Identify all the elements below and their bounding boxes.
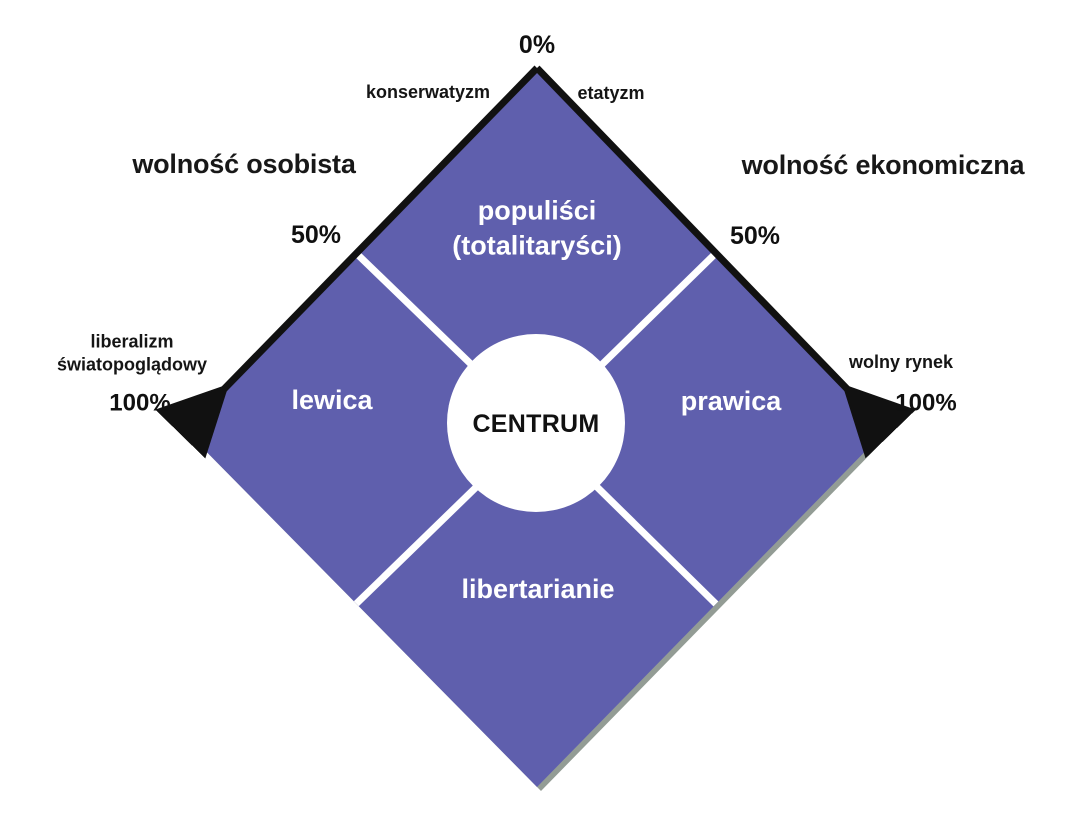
right-mid-percent-label: 50%: [730, 222, 780, 250]
right-pole-label: wolny rynek: [849, 352, 953, 372]
left-axis-title: wolność osobista: [132, 149, 355, 179]
quadrant-top-line2: (totalitaryści): [452, 228, 622, 263]
left-pole-line2: światopoglądowy: [57, 353, 207, 376]
quadrant-label-bottom: libertarianie: [461, 574, 614, 604]
diagram-canvas: 0% konserwatyzm etatyzm wolność osobista…: [0, 0, 1080, 827]
left-pole-line1: liberalizm: [57, 331, 207, 354]
top-left-pole-label: konserwatyzm: [366, 82, 490, 102]
left-pole-label: liberalizm światopoglądowy: [57, 331, 207, 376]
quadrant-label-left: lewica: [291, 385, 372, 415]
center-label: CENTRUM: [472, 410, 599, 438]
right-end-percent-label: 100%: [895, 391, 956, 418]
right-axis-title: wolność ekonomiczna: [742, 150, 1025, 180]
top-right-pole-label: etatyzm: [577, 83, 644, 103]
quadrant-label-top: populiści (totalitaryści): [452, 193, 622, 262]
left-mid-percent-label: 50%: [291, 221, 341, 249]
apex-percent-label: 0%: [519, 31, 555, 59]
quadrant-top-line1: populiści: [452, 193, 622, 228]
left-end-percent-label: 100%: [109, 391, 170, 418]
quadrant-label-right: prawica: [681, 386, 782, 416]
